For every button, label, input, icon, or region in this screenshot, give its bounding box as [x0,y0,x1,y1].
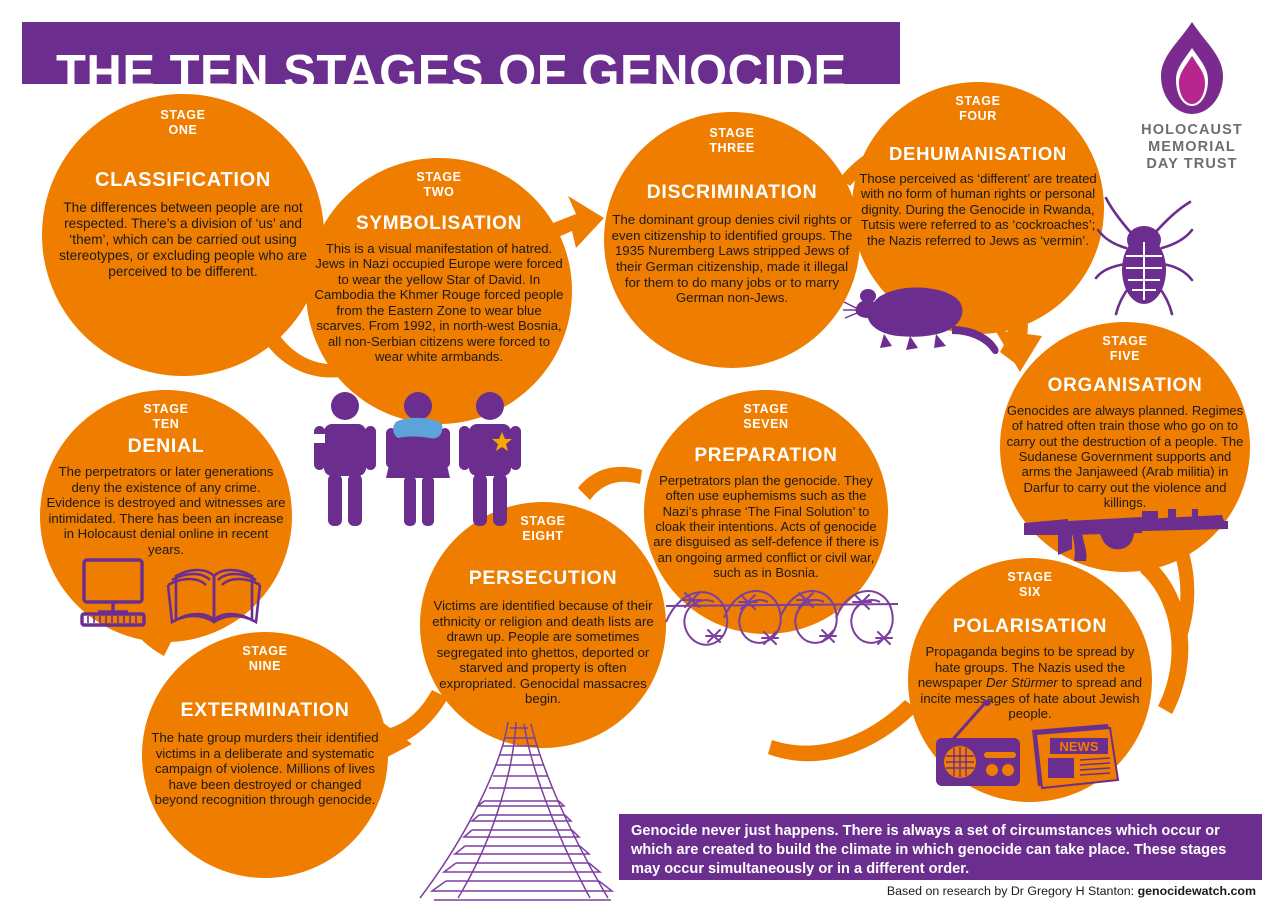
stage-eight-label: STAGEEIGHT [520,514,565,543]
stage-eight-body: Victims are identified because of their … [424,598,662,707]
credit-link[interactable]: genocidewatch.com [1138,884,1256,898]
stage-seven-title: PREPARATION [694,445,837,467]
stage-circle-two[interactable]: STAGETWO SYMBOLISATION This is a visual … [306,158,572,424]
stage-circle-ten[interactable]: STAGETEN DENIAL The perpetrators or late… [40,390,292,642]
stage-circle-four[interactable]: STAGEFOUR DEHUMANISATION Those perceived… [852,82,1104,334]
credit-line: Based on research by Dr Gregory H Stanto… [619,884,1262,898]
stage-two-title: SYMBOLISATION [356,213,522,235]
stage-six-body-emphasis: Der Stürmer [986,675,1058,690]
logo: HOLOCAUST MEMORIAL DAY TRUST [1122,22,1262,173]
stage-six-body: Propaganda begins to be spread by hate g… [916,644,1144,722]
stage-three-title: DISCRIMINATION [647,181,818,204]
stage-ten-title: DENIAL [128,435,205,458]
stage-circle-three[interactable]: STAGETHREE DISCRIMINATION The dominant g… [604,112,860,368]
stage-two-label: STAGETWO [416,170,461,199]
stage-seven-label: STAGESEVEN [743,402,788,431]
stage-ten-label: STAGETEN [143,402,188,431]
header-bar: THE TEN STAGES OF GENOCIDE [22,22,900,84]
stage-circle-seven[interactable]: STAGESEVEN PREPARATION Perpetrators plan… [644,390,888,634]
logo-line-3: DAY TRUST [1122,156,1262,173]
stage-four-title: DEHUMANISATION [889,143,1067,165]
stage-circle-six[interactable]: STAGESIX POLARISATION Propaganda begins … [908,558,1152,802]
stage-three-label: STAGETHREE [709,126,754,155]
logo-text: HOLOCAUST MEMORIAL DAY TRUST [1122,122,1262,173]
stage-five-label: STAGEFIVE [1102,334,1147,363]
stage-nine-label: STAGENINE [242,644,287,673]
stage-six-label: STAGESIX [1007,570,1052,599]
stage-eight-title: PERSECUTION [469,567,618,590]
logo-line-1: HOLOCAUST [1122,122,1262,139]
stage-nine-body: The hate group murders their identified … [147,730,383,808]
stage-one-title: CLASSIFICATION [95,169,271,192]
logo-line-2: MEMORIAL [1122,139,1262,156]
stage-seven-body: Perpetrators plan the genocide. They oft… [648,473,884,580]
stage-four-label: STAGEFOUR [955,94,1000,123]
stage-circle-eight[interactable]: STAGEEIGHT PERSECUTION Victims are ident… [420,502,666,748]
stage-four-body: Those perceived as ‘different’ are treat… [858,171,1098,248]
stage-nine-title: EXTERMINATION [180,699,349,722]
infographic-canvas: THE TEN STAGES OF GENOCIDE HOLOCAUST MEM… [0,0,1280,905]
stage-three-body: The dominant group denies civil rights o… [607,212,857,306]
stage-circle-one[interactable]: STAGEONE CLASSIFICATION The differences … [42,94,324,376]
stage-one-body: The differences between people are not r… [54,200,312,280]
stage-five-title: ORGANISATION [1048,375,1203,397]
stage-two-body: This is a visual manifestation of hatred… [313,241,565,365]
stage-circle-five[interactable]: STAGEFIVE ORGANISATION Genocides are alw… [1000,322,1250,572]
flame-icon [1161,22,1223,114]
stage-circle-nine[interactable]: STAGENINE EXTERMINATION The hate group m… [142,632,388,878]
footer-bar: Genocide never just happens. There is al… [619,814,1262,880]
stage-six-title: POLARISATION [953,615,1107,638]
stage-ten-body: The perpetrators or later generations de… [46,464,286,557]
stage-one-label: STAGEONE [160,108,205,137]
credit-prefix: Based on research by Dr Gregory H Stanto… [887,884,1138,898]
footer-statement: Genocide never just happens. There is al… [631,822,1253,879]
stage-five-body: Genocides are always planned. Regimes of… [1006,403,1244,510]
